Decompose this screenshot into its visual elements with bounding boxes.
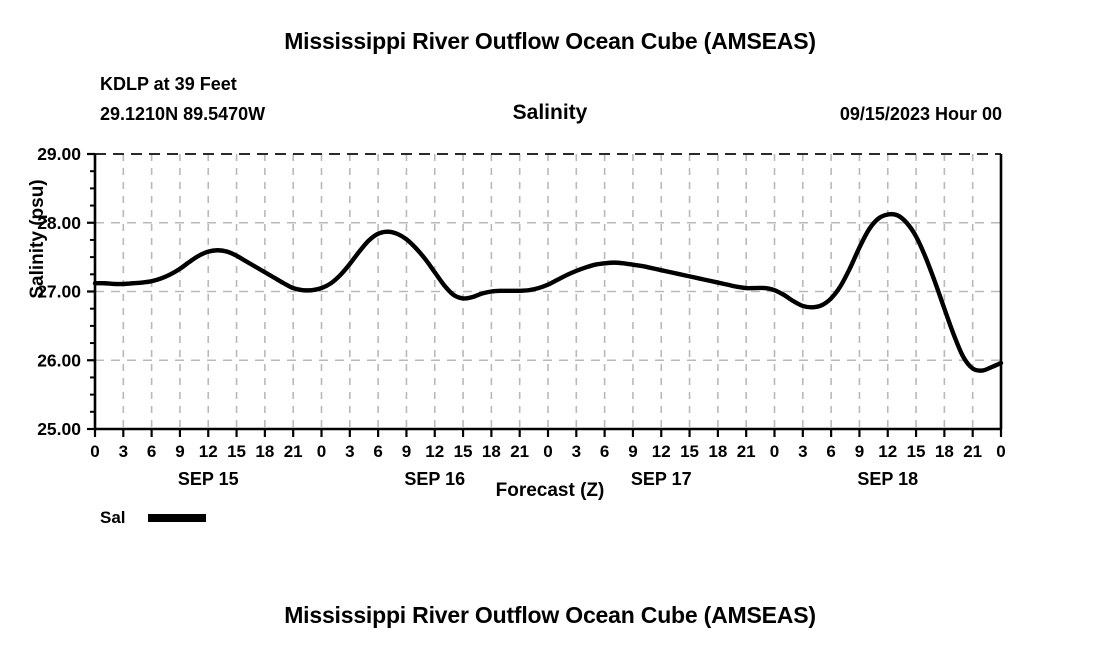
grid-lines [95, 154, 1001, 429]
svg-text:15: 15 [907, 442, 926, 461]
svg-text:0: 0 [543, 442, 552, 461]
svg-text:18: 18 [935, 442, 954, 461]
svg-text:21: 21 [284, 442, 303, 461]
svg-text:9: 9 [628, 442, 637, 461]
y-tick-labels: 25.0026.0027.0028.0029.00 [37, 144, 81, 439]
svg-text:0: 0 [996, 442, 1005, 461]
salinity-data-line [95, 214, 1001, 371]
svg-text:6: 6 [373, 442, 382, 461]
svg-text:21: 21 [963, 442, 982, 461]
svg-text:SEP 16: SEP 16 [404, 469, 465, 489]
svg-text:15: 15 [227, 442, 246, 461]
svg-text:6: 6 [147, 442, 156, 461]
svg-text:12: 12 [199, 442, 218, 461]
svg-text:21: 21 [510, 442, 529, 461]
svg-text:9: 9 [402, 442, 411, 461]
svg-text:12: 12 [652, 442, 671, 461]
svg-text:0: 0 [770, 442, 779, 461]
svg-text:0: 0 [90, 442, 99, 461]
svg-text:15: 15 [454, 442, 473, 461]
legend-label-sal: Sal [100, 508, 126, 528]
svg-text:3: 3 [345, 442, 354, 461]
svg-text:6: 6 [826, 442, 835, 461]
svg-text:12: 12 [425, 442, 444, 461]
day-group-labels: SEP 15SEP 16SEP 17SEP 18 [178, 469, 918, 489]
svg-text:18: 18 [708, 442, 727, 461]
svg-text:3: 3 [572, 442, 581, 461]
model-run-timestamp: 09/15/2023 Hour 00 [840, 104, 1002, 125]
svg-text:3: 3 [798, 442, 807, 461]
svg-text:6: 6 [600, 442, 609, 461]
svg-text:29.00: 29.00 [37, 144, 81, 164]
svg-text:28.00: 28.00 [37, 213, 81, 233]
svg-text:27.00: 27.00 [37, 282, 81, 302]
svg-text:21: 21 [737, 442, 756, 461]
svg-text:SEP 18: SEP 18 [857, 469, 918, 489]
legend-swatch-sal [148, 514, 206, 522]
svg-text:SEP 17: SEP 17 [631, 469, 692, 489]
svg-text:25.00: 25.00 [37, 419, 81, 439]
svg-text:9: 9 [175, 442, 184, 461]
svg-text:3: 3 [119, 442, 128, 461]
footer-title: Mississippi River Outflow Ocean Cube (AM… [0, 602, 1100, 629]
axis-ticks [87, 154, 1001, 437]
station-depth-label: KDLP at 39 Feet [100, 74, 237, 95]
svg-text:9: 9 [855, 442, 864, 461]
svg-text:15: 15 [680, 442, 699, 461]
x-tick-labels: 0369121518210369121518210369121518210369… [90, 442, 1005, 461]
svg-text:18: 18 [255, 442, 274, 461]
svg-text:SEP 15: SEP 15 [178, 469, 239, 489]
salinity-time-series-plot: 25.0026.0027.0028.0029.00 03691215182103… [0, 140, 1100, 560]
legend: Sal [100, 508, 206, 528]
svg-text:18: 18 [482, 442, 501, 461]
page-title: Mississippi River Outflow Ocean Cube (AM… [0, 28, 1100, 55]
svg-text:26.00: 26.00 [37, 350, 81, 370]
svg-text:12: 12 [878, 442, 897, 461]
chart-page: Mississippi River Outflow Ocean Cube (AM… [0, 0, 1100, 650]
svg-text:0: 0 [317, 442, 326, 461]
